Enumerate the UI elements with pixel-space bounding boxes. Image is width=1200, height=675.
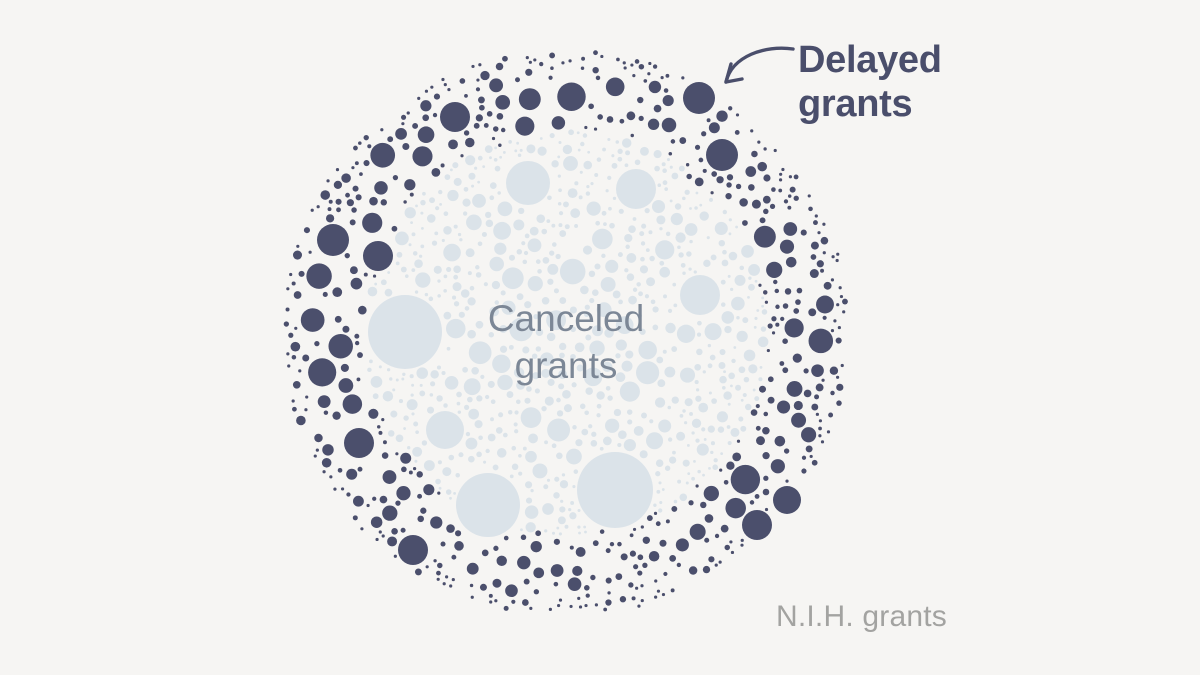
grant-circle <box>772 331 775 334</box>
grant-circle <box>420 212 423 215</box>
grant-circle <box>498 201 513 216</box>
grant-circle <box>411 393 414 396</box>
grant-circle <box>438 460 442 464</box>
grant-circle <box>658 508 662 512</box>
grant-circle <box>420 100 431 111</box>
grant-circle <box>709 198 713 202</box>
grant-circle <box>530 227 539 236</box>
grant-circle <box>550 66 554 70</box>
grant-circle <box>728 403 731 406</box>
chart-source-caption: N.I.H. grants <box>776 600 947 634</box>
grant-circle <box>380 128 383 131</box>
grant-circle <box>557 82 585 110</box>
grant-circle <box>559 506 565 512</box>
grant-circle <box>333 488 336 491</box>
grant-circle <box>756 426 761 431</box>
grant-circle <box>528 238 542 252</box>
grant-circle <box>533 58 536 61</box>
grant-circle <box>525 234 530 239</box>
grant-circle <box>317 224 349 256</box>
grant-circle <box>367 144 371 148</box>
grant-circle <box>429 197 435 203</box>
grant-circle <box>413 251 418 256</box>
grant-circle <box>756 309 759 312</box>
grant-circle <box>735 130 740 135</box>
grant-circle <box>525 481 532 488</box>
grant-circle <box>677 325 695 343</box>
grant-circle <box>468 271 472 275</box>
grant-circle <box>568 508 571 511</box>
grant-circle <box>689 240 692 243</box>
grant-circle <box>728 275 731 278</box>
grant-circle <box>600 55 603 58</box>
grant-circle <box>299 271 305 277</box>
grant-circle <box>405 274 409 278</box>
grant-circle <box>410 193 414 197</box>
grant-circle <box>584 585 590 591</box>
grant-circle <box>758 377 762 381</box>
grant-circle <box>790 187 796 193</box>
grant-circle <box>669 555 676 562</box>
grant-circle <box>450 168 453 171</box>
grant-circle <box>530 489 533 492</box>
grant-circle <box>675 203 681 209</box>
grant-circle <box>449 497 452 500</box>
grant-circle <box>382 452 389 459</box>
grant-circle <box>364 135 369 140</box>
grant-circle <box>664 367 675 378</box>
grant-circle <box>724 326 731 333</box>
grant-circle <box>689 566 697 574</box>
grant-circle <box>588 424 592 428</box>
grant-circle <box>410 374 414 378</box>
grant-circle <box>494 146 497 149</box>
grant-circle <box>435 206 439 210</box>
grant-circle <box>811 242 819 250</box>
grant-circle <box>594 263 600 269</box>
grant-circle <box>782 338 788 344</box>
grant-circle <box>699 204 702 207</box>
grant-circle <box>640 147 649 156</box>
grant-circle <box>757 162 767 172</box>
grant-circle <box>562 473 565 476</box>
grant-circle <box>417 97 420 100</box>
grant-circle <box>658 420 671 433</box>
grant-circle <box>623 61 626 64</box>
grant-circle <box>336 168 339 171</box>
grant-circle <box>426 565 429 568</box>
grant-circle <box>739 366 746 373</box>
grant-circle <box>641 241 645 245</box>
grant-circle <box>415 290 418 293</box>
grant-circle <box>656 490 660 494</box>
grant-circle <box>752 200 761 209</box>
grant-circle <box>581 429 588 436</box>
grant-circle <box>541 406 546 411</box>
grant-circle <box>697 470 700 473</box>
grant-circle <box>640 584 643 587</box>
grant-circle <box>509 255 515 261</box>
grant-circle <box>673 303 677 307</box>
grant-circle <box>526 56 529 59</box>
grant-circle <box>833 319 836 322</box>
grant-circle <box>633 564 638 569</box>
grant-circle <box>808 194 811 197</box>
grant-circle <box>649 551 660 562</box>
grant-circle <box>545 396 554 405</box>
grant-circle <box>751 409 758 416</box>
grant-circle <box>836 376 839 379</box>
grant-circle <box>671 346 677 352</box>
grant-circle <box>478 241 483 246</box>
grant-circle <box>350 219 356 225</box>
grant-circle <box>731 297 745 311</box>
grant-circle <box>357 377 361 381</box>
grant-circle <box>543 257 550 264</box>
grant-circle <box>696 484 699 487</box>
grant-circle <box>705 323 722 340</box>
grant-circle <box>437 492 440 495</box>
grant-circle <box>396 486 410 500</box>
grant-circle <box>292 399 295 402</box>
grant-circle <box>552 116 565 129</box>
grant-circle <box>632 596 636 600</box>
grant-circle <box>725 545 731 551</box>
grant-circle <box>476 114 483 121</box>
grant-circle <box>748 264 760 276</box>
grant-circle <box>617 542 622 547</box>
grant-circle <box>718 426 724 432</box>
grant-circle <box>641 413 647 419</box>
grant-circle <box>664 88 669 93</box>
grant-circle <box>811 404 818 411</box>
grant-circle <box>689 412 693 416</box>
grant-circle <box>703 566 710 573</box>
grant-circle <box>768 376 774 382</box>
grant-circle <box>763 147 766 150</box>
grant-circle <box>336 207 341 212</box>
grant-circle <box>547 195 552 200</box>
grant-circle <box>634 426 644 436</box>
grant-circle <box>601 254 605 258</box>
grant-circle <box>351 207 357 213</box>
grant-circle <box>801 230 807 236</box>
grant-circle <box>617 149 622 154</box>
grant-circle <box>588 103 594 109</box>
grant-circle <box>726 182 731 187</box>
grant-circle <box>552 242 557 247</box>
grant-circle <box>539 62 543 66</box>
grant-circle <box>750 129 753 132</box>
grant-circle <box>488 434 496 442</box>
grant-circle <box>367 368 371 372</box>
grant-circle <box>443 226 452 235</box>
grant-circle <box>785 288 792 295</box>
grant-circle <box>358 306 367 315</box>
grant-circle <box>704 538 709 543</box>
grant-circle <box>609 223 615 229</box>
grant-circle <box>560 500 563 503</box>
grant-circle <box>565 525 569 529</box>
grant-circle <box>541 229 547 235</box>
grant-circle <box>412 146 432 166</box>
grant-circle <box>708 426 715 433</box>
grant-circle <box>493 222 511 240</box>
grant-circle <box>809 329 834 354</box>
grant-circle <box>763 476 768 481</box>
grant-circle <box>485 212 491 218</box>
grant-circle <box>606 578 612 584</box>
grant-circle <box>520 149 523 152</box>
grant-circle <box>765 508 768 511</box>
grant-circle <box>810 455 813 458</box>
grant-circle <box>433 559 436 562</box>
grant-circle <box>437 563 442 568</box>
grant-circle <box>447 88 450 91</box>
grant-circle <box>686 251 691 256</box>
grant-circle <box>654 166 660 172</box>
grant-circle <box>637 97 643 103</box>
grant-circle <box>757 141 760 144</box>
grant-circle <box>437 279 440 282</box>
grant-circle <box>326 214 334 222</box>
grant-circle <box>441 371 445 375</box>
grant-circle <box>517 556 530 569</box>
grant-circle <box>681 263 686 268</box>
grant-circle <box>590 182 593 185</box>
grant-circle <box>456 392 462 398</box>
grant-circle <box>754 326 757 329</box>
grant-circle <box>787 381 803 397</box>
grant-circle <box>404 179 415 190</box>
grant-circle <box>767 349 770 352</box>
grant-circle <box>696 388 699 391</box>
grant-circle <box>723 210 727 214</box>
grant-circle <box>775 436 786 447</box>
grant-circle <box>811 364 824 377</box>
grant-circle <box>529 607 532 610</box>
grant-circle <box>710 355 716 361</box>
grant-circle <box>430 516 442 528</box>
grant-circle <box>744 350 756 362</box>
grant-circle <box>363 160 369 166</box>
grant-circle <box>627 273 635 281</box>
grant-circle <box>446 319 466 339</box>
grant-circle <box>374 283 377 286</box>
grant-circle <box>514 422 518 426</box>
grant-circle <box>334 181 342 189</box>
grant-circle <box>653 64 657 68</box>
grant-circle <box>475 265 479 269</box>
grant-circle <box>437 578 440 581</box>
grant-circle <box>425 90 428 93</box>
grant-circle <box>759 386 766 393</box>
grant-circle <box>646 248 650 252</box>
grant-circle <box>593 540 599 546</box>
grant-circle <box>413 467 416 470</box>
grant-circle <box>422 440 427 445</box>
grant-circle <box>332 411 340 419</box>
grant-circle <box>754 226 776 248</box>
grant-circle <box>430 370 438 378</box>
grant-circle <box>391 528 398 535</box>
grant-circle <box>803 368 808 373</box>
grant-circle <box>395 452 398 455</box>
grant-circle <box>524 579 530 585</box>
grant-circle <box>702 474 705 477</box>
grant-circle <box>577 131 580 134</box>
grant-circle <box>616 58 620 62</box>
grant-circle <box>504 536 509 541</box>
grant-circle <box>381 279 387 285</box>
grant-circle <box>728 106 732 110</box>
grant-circle <box>580 286 589 295</box>
grant-circle <box>294 291 302 299</box>
grant-circle <box>677 563 681 567</box>
grant-circle <box>420 384 423 387</box>
grant-circle <box>456 473 520 537</box>
grant-circle <box>682 409 685 412</box>
grant-circle <box>691 477 695 481</box>
grant-circle <box>494 158 498 162</box>
grant-circle <box>563 156 578 171</box>
grant-circle <box>608 207 612 211</box>
grant-circle <box>320 190 330 200</box>
grant-circle <box>291 342 301 352</box>
grant-circle <box>754 317 757 320</box>
grant-circle <box>649 419 653 423</box>
grant-circle <box>728 441 732 445</box>
grant-circle <box>715 534 719 538</box>
grant-circle <box>543 484 548 489</box>
grant-circle <box>396 379 399 382</box>
grant-circle <box>292 282 296 286</box>
grant-circle <box>314 454 317 457</box>
grant-circle <box>471 185 474 188</box>
grant-circle <box>401 267 407 273</box>
grant-circle <box>641 224 646 229</box>
grant-circle <box>412 447 422 457</box>
grant-circle <box>385 289 393 297</box>
grant-circle <box>654 596 657 599</box>
grant-circle <box>476 272 482 278</box>
grant-circle <box>302 355 309 362</box>
grant-circle <box>314 434 322 442</box>
grant-circle <box>667 406 671 410</box>
grant-circle <box>317 205 320 208</box>
grant-circle <box>758 337 769 348</box>
grant-circle <box>387 271 390 274</box>
grant-circle <box>559 230 566 237</box>
grant-circle <box>401 467 407 473</box>
grant-circle <box>729 540 732 543</box>
grant-circle <box>587 151 590 154</box>
grant-circle <box>493 126 499 132</box>
grant-circle <box>779 361 784 366</box>
grant-circle <box>611 154 614 157</box>
grant-circle <box>533 463 548 478</box>
grant-circle <box>562 390 571 399</box>
grant-circle <box>536 214 545 223</box>
grant-circle <box>472 194 486 208</box>
grant-circle <box>606 189 609 192</box>
grant-circle <box>568 577 582 591</box>
grant-circle <box>630 533 634 537</box>
grant-circle <box>830 366 838 374</box>
grant-circle <box>489 156 492 159</box>
grant-circle <box>697 443 709 455</box>
grant-circle <box>444 83 447 86</box>
grant-circle <box>452 162 458 168</box>
grant-circle <box>775 305 779 309</box>
grant-circle <box>485 395 489 399</box>
grant-circle <box>520 528 523 531</box>
grant-circle <box>712 464 718 470</box>
grant-circle <box>580 404 586 410</box>
grant-circle <box>574 224 578 228</box>
grant-circle <box>355 341 359 345</box>
grant-circle <box>680 414 684 418</box>
grant-circle <box>615 573 622 580</box>
grant-circle <box>528 433 538 443</box>
grant-circle <box>518 454 522 458</box>
grant-circle <box>546 219 550 223</box>
grant-circle <box>558 175 561 178</box>
grant-circle <box>830 391 834 395</box>
grant-circle <box>697 333 701 337</box>
grant-circle <box>354 334 359 339</box>
grant-circle <box>468 409 479 420</box>
grant-circle <box>591 432 596 437</box>
grant-circle <box>627 419 632 424</box>
grant-circle <box>433 113 437 117</box>
grant-circle <box>716 110 727 121</box>
grant-circle <box>827 430 830 433</box>
grant-circle <box>387 536 397 546</box>
grant-circle <box>390 411 397 418</box>
grant-circle <box>468 173 475 180</box>
grant-circle <box>760 217 766 223</box>
grant-circle <box>683 82 715 114</box>
grant-circle <box>524 398 530 404</box>
grant-circle <box>718 362 725 369</box>
grant-circle <box>779 178 782 181</box>
grant-circle <box>699 158 704 163</box>
grant-circle <box>732 453 741 462</box>
grant-circle <box>526 497 532 503</box>
grant-circle <box>761 296 764 299</box>
grant-circle <box>780 240 794 254</box>
grant-circle <box>606 548 611 553</box>
grant-circle <box>396 434 404 442</box>
grant-circle <box>704 486 719 501</box>
grant-circle <box>411 412 414 415</box>
grant-circle <box>741 399 744 402</box>
grant-circle <box>345 253 350 258</box>
grant-circle <box>519 88 541 110</box>
grant-circle <box>304 227 310 233</box>
grant-circle <box>694 206 698 210</box>
grant-circle <box>415 568 422 575</box>
grant-circle <box>831 329 834 332</box>
grant-circle <box>811 254 817 260</box>
grant-circle <box>648 62 651 65</box>
grant-circle <box>646 277 655 286</box>
grant-circle <box>547 279 553 285</box>
grant-circle <box>785 480 788 483</box>
grant-circle <box>436 395 442 401</box>
grant-circle <box>731 551 734 554</box>
